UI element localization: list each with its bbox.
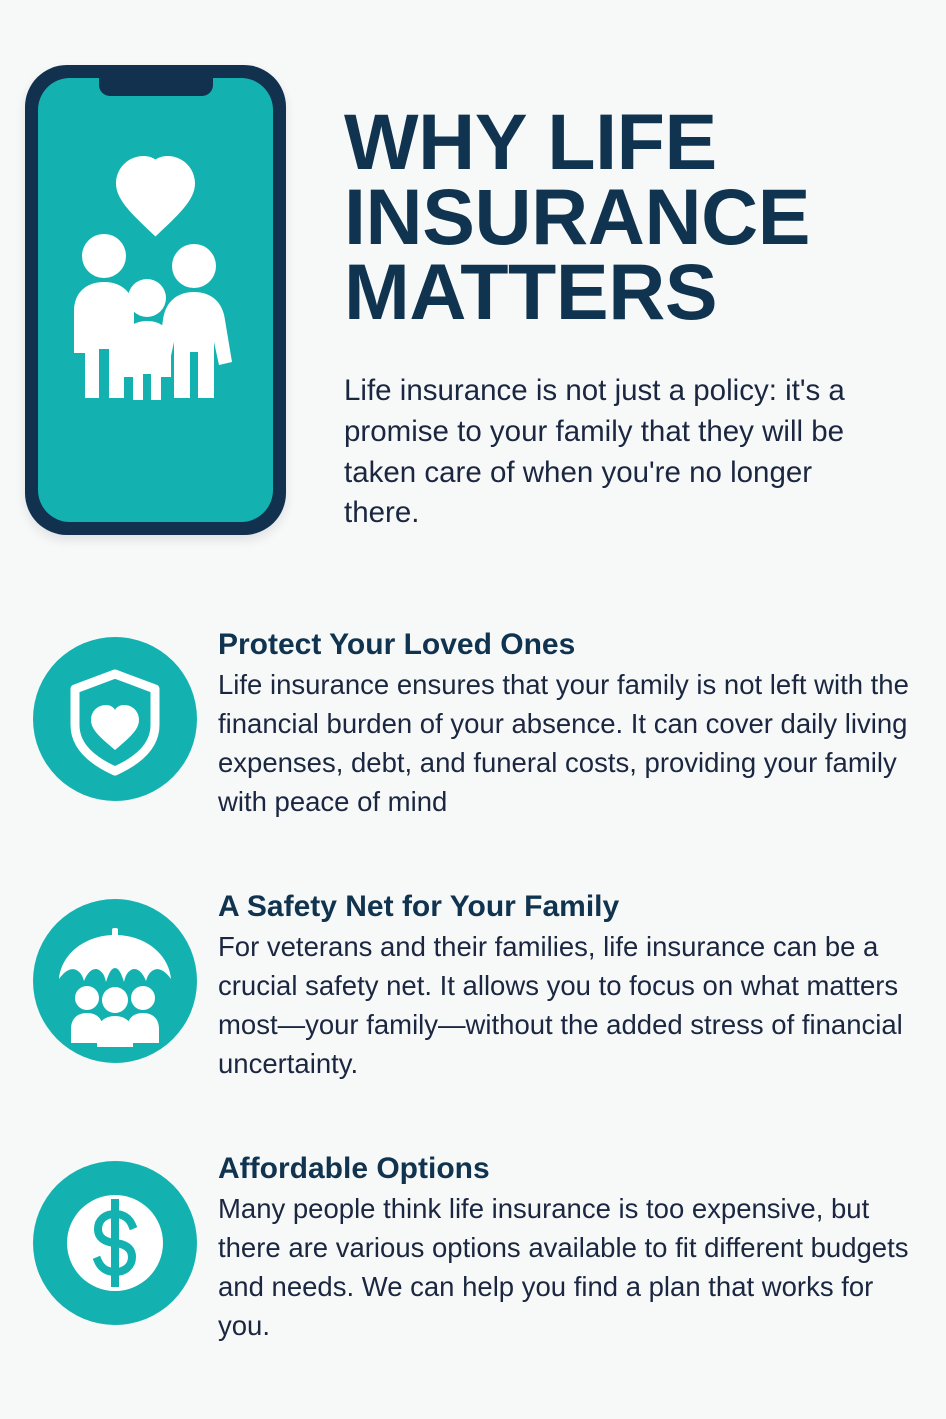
headline-line-2: INSURANCE — [344, 179, 919, 254]
intro-paragraph: Life insurance is not just a policy: it'… — [344, 371, 854, 534]
feature-item: Affordable Options Many people think lif… — [0, 1152, 946, 1402]
headline-line-1: WHY LIFE — [344, 104, 919, 179]
feature-body: Affordable Options Many people think lif… — [218, 1152, 946, 1345]
phone-illustration — [25, 65, 286, 535]
phone-screen — [38, 78, 273, 522]
feature-item: Protect Your Loved Ones Life insurance e… — [0, 628, 946, 878]
feature-text: Life insurance ensures that your family … — [218, 665, 928, 821]
infographic-page: WHY LIFE INSURANCE MATTERS Life insuranc… — [0, 0, 946, 1419]
page-title: WHY LIFE INSURANCE MATTERS — [344, 104, 919, 329]
features-list: Protect Your Loved Ones Life insurance e… — [0, 628, 946, 1402]
feature-body: A Safety Net for Your Family For veteran… — [218, 890, 946, 1083]
hero-section: WHY LIFE INSURANCE MATTERS Life insuranc… — [0, 0, 946, 620]
feature-body: Protect Your Loved Ones Life insurance e… — [218, 628, 946, 821]
dollar-coin-icon — [33, 1161, 197, 1325]
phone-notch — [99, 78, 213, 96]
feature-title: Affordable Options — [218, 1152, 916, 1187]
headline-line-3: MATTERS — [344, 254, 919, 329]
feature-text: For veterans and their families, life in… — [218, 927, 906, 1083]
feature-title: A Safety Net for Your Family — [218, 890, 906, 925]
hero-text-block: WHY LIFE INSURANCE MATTERS Life insuranc… — [344, 104, 919, 534]
feature-text: Many people think life insurance is too … — [218, 1189, 916, 1345]
feature-item: A Safety Net for Your Family For veteran… — [0, 890, 946, 1140]
feature-title: Protect Your Loved Ones — [218, 628, 928, 663]
shield-heart-icon — [33, 637, 197, 801]
umbrella-family-icon — [33, 899, 197, 1063]
family-with-heart-icon — [38, 130, 273, 420]
